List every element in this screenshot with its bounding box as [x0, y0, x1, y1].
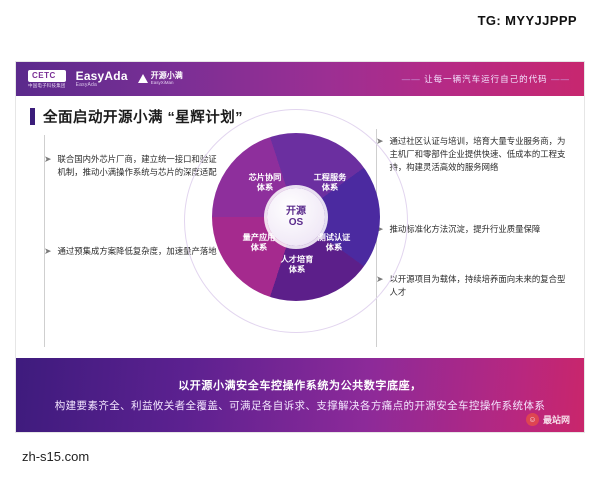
bullet-right-1-text: 通过社区认证与培训，培育大量专业服务商，为主机厂和零部件企业提供快速、低成本的工… [390, 135, 568, 174]
segment-label-talent: 人才培育体系 [274, 255, 320, 276]
slide-body: ➤ 联合国内外芯片厂商，建立统一接口和验证机制，推动小满操作系统与芯片的深度适配… [16, 127, 584, 359]
logo-cetc-subtitle: 中国电子科技集团 [28, 84, 66, 89]
smile-icon: ☺ [526, 413, 539, 426]
slogan-text: 让每一辆汽车运行自己的代码 [424, 74, 548, 84]
chevron-right-icon: ➤ [44, 245, 52, 258]
logo-easyada-sub: EasyAda [76, 83, 128, 88]
segment-label-chip: 芯片协同体系 [242, 173, 288, 194]
banner-watermark-text: 最站网 [543, 413, 570, 426]
slogan-prefix-dash: —— [402, 74, 424, 84]
segment-label-engineering: 工程服务体系 [307, 173, 353, 194]
bullet-right-2: ➤ 推动标准化方法沉淀，提升行业质量保障 [382, 223, 568, 236]
slide-header: CETC 中国电子科技集团 EasyAda EasyAda 开源小满 EasyX… [16, 62, 584, 96]
bullet-right-1: ➤ 通过社区认证与培训，培育大量专业服务商，为主机厂和零部件企业提供快速、低成本… [382, 135, 568, 174]
logo-cetc-mark: CETC [28, 70, 66, 82]
left-timeline-rail [44, 135, 45, 347]
logo-kaiyuan-xiaoman: 开源小满 EasyXiMan [138, 72, 183, 85]
chevron-right-icon: ➤ [44, 153, 52, 166]
banner-watermark: ☺ 最站网 [526, 413, 570, 426]
donut-center: 开源 OS [267, 188, 325, 246]
logo-xiaoman-text: 开源小满 EasyXiMan [151, 72, 183, 85]
domain-watermark-chip: zh-s15.com [10, 444, 105, 470]
logo-xiaoman-en: EasyXiMan [151, 81, 183, 86]
bullet-right-3-text: 以开源项目为载体，持续培养面向未来的复合型人才 [390, 273, 568, 299]
donut-diagram: 芯片协同体系 工程服务体系 测试认证体系 人才培育体系 量产应用体系 开源 OS [212, 133, 380, 301]
donut-center-line2: OS [289, 217, 303, 229]
title-accent-bar [30, 108, 35, 125]
logo-cetc: CETC 中国电子科技集团 [28, 70, 66, 89]
tg-watermark-chip: TG: MYYJJPPP [465, 8, 590, 34]
banner-line-2: 构建要素齐全、利益攸关者全覆盖、可满足各自诉求、支撑解决各方痛点的开源安全车控操… [55, 398, 546, 413]
segment-label-testing: 测试认证体系 [311, 233, 357, 254]
logo-group: CETC 中国电子科技集团 EasyAda EasyAda 开源小满 EasyX… [16, 70, 183, 89]
logo-easyada: EasyAda EasyAda [76, 70, 128, 88]
page-title: 全面启动开源小满 “星辉计划” [43, 106, 243, 127]
logo-easyada-name: EasyAda [76, 70, 128, 83]
bullet-right-2-text: 推动标准化方法沉淀，提升行业质量保障 [390, 223, 541, 236]
triangle-icon [138, 74, 148, 83]
donut-center-line1: 开源 [286, 206, 306, 218]
bullet-right-3: ➤ 以开源项目为载体，持续培养面向未来的复合型人才 [382, 273, 568, 299]
slide-card: CETC 中国电子科技集团 EasyAda EasyAda 开源小满 EasyX… [16, 62, 584, 432]
summary-banner: 以开源小满安全车控操作系统为公共数字底座， 构建要素齐全、利益攸关者全覆盖、可满… [16, 358, 584, 432]
header-slogan: —— 让每一辆汽车运行自己的代码 —— [402, 73, 570, 85]
banner-line-1: 以开源小满安全车控操作系统为公共数字底座， [178, 377, 422, 393]
screenshot-root: TG: MYYJJPPP CETC 中国电子科技集团 EasyAda EasyA… [0, 0, 600, 480]
slogan-suffix-dash: —— [548, 74, 570, 84]
